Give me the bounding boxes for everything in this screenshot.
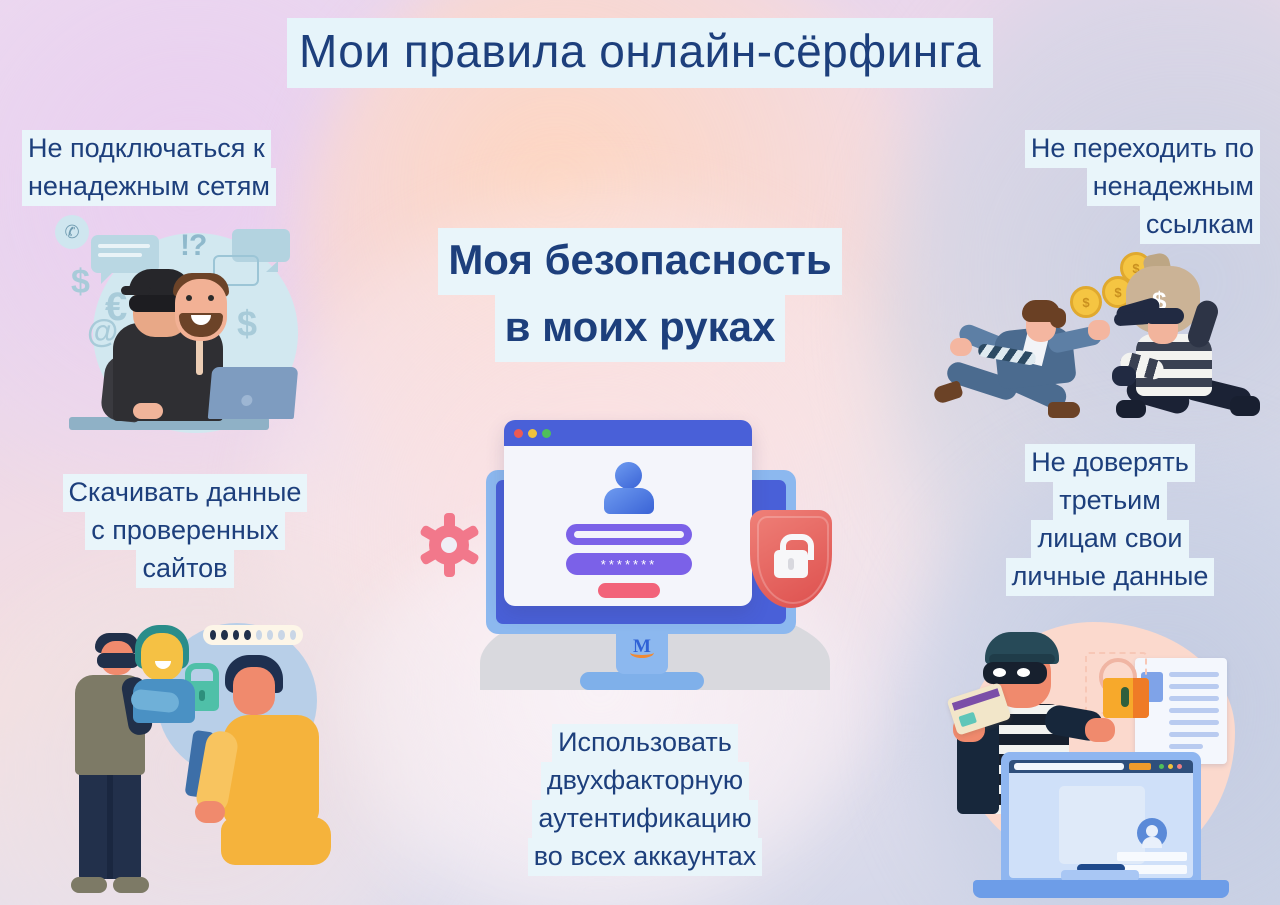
rule-line: Скачивать данные (63, 474, 308, 512)
rule-line: ненадежным (1087, 168, 1260, 206)
window-titlebar (504, 420, 752, 446)
rule-line: аутентификацию (532, 800, 757, 838)
laptop-icon (208, 367, 299, 419)
maximize-dot-icon[interactable] (542, 429, 551, 438)
rule-networks: Не подключаться к ненадежным сетям (22, 130, 362, 206)
runner-front-hand (1088, 320, 1110, 340)
chat-bubble-icon (91, 235, 159, 273)
username-field (1117, 852, 1187, 861)
login-card (1059, 786, 1145, 864)
rule-line: сайтов (136, 550, 233, 588)
monitor-base (580, 672, 704, 690)
laptop-base (973, 880, 1229, 898)
gear-icon (420, 516, 478, 574)
page-title: Мои правила онлайн-сёрфинга (0, 18, 1280, 88)
victim-head (233, 667, 275, 715)
rule-line: лицам свои (1031, 520, 1188, 558)
rule-line: ненадежным сетям (22, 168, 276, 206)
thief-shoe (113, 877, 149, 893)
social-engineering-illustration (45, 605, 365, 900)
exclamation-question-icon: !? (180, 229, 206, 263)
thief-shoe (71, 877, 107, 893)
login-window: ******* (504, 420, 752, 606)
rule-line: с проверенных (85, 512, 284, 550)
rule-line: двухфакторную (541, 762, 749, 800)
thief-eye-mask (983, 662, 1047, 684)
thief-chase-illustration: $ $ $ $ (930, 250, 1260, 435)
phone-call-icon: ✆ (55, 215, 89, 249)
fake-woman-face-front (145, 639, 179, 679)
browser-button (1129, 763, 1151, 770)
password-dot (210, 630, 216, 640)
rule-twofactor: Использовать двухфакторную аутентификаци… (455, 724, 835, 876)
rule-line: Использовать (552, 724, 738, 762)
dollar-symbol-icon: $ (71, 263, 90, 302)
browser-dot-icon (1177, 764, 1182, 769)
password-dots-field (203, 625, 303, 645)
browser-dot-icon (1159, 764, 1164, 769)
password-dot (256, 630, 262, 640)
password-dot (221, 630, 227, 640)
padlock-icon (1103, 678, 1149, 718)
avatar-icon (1137, 818, 1167, 848)
fake-face-eye (186, 295, 192, 301)
runner-back-hand (950, 338, 972, 356)
coin-icon: $ (1070, 286, 1102, 318)
laptop-screen (1009, 760, 1193, 878)
runner-back-shoe (932, 380, 964, 405)
avatar-icon (604, 488, 654, 514)
password-dot (278, 630, 284, 640)
rule-trust: Не доверять третьим лицам свои личные да… (960, 444, 1260, 596)
thief-back-shoe (1116, 400, 1146, 418)
browser-bar (1009, 760, 1193, 773)
login-submit-button[interactable] (598, 583, 660, 598)
rule-line: третьим (1053, 482, 1167, 520)
rule-line: Не переходить по (1025, 130, 1260, 168)
rule-download: Скачивать данные с проверенных сайтов (10, 474, 360, 588)
rule-line: личные данные (1006, 558, 1215, 596)
rule-line: Не доверять (1025, 444, 1195, 482)
runner-hair (1022, 300, 1060, 322)
thief-beanie-cap (985, 632, 1059, 664)
url-bar (1014, 763, 1124, 770)
password-dot (244, 630, 250, 640)
thief-eye-mask (1144, 308, 1184, 324)
password-dot (267, 630, 273, 640)
password-dot (233, 630, 239, 640)
main-heading: Моя безопасность в моих руках (330, 228, 950, 362)
rule-line: ссылкам (1140, 206, 1260, 244)
username-field[interactable] (566, 524, 692, 545)
thief-hand (1085, 718, 1115, 742)
dollar-symbol-icon: $ (237, 303, 257, 345)
thief-front-shoe (1230, 396, 1260, 416)
victim-legs (221, 817, 331, 865)
password-dot (290, 630, 296, 640)
fake-face-eye (208, 295, 214, 301)
lock-body-icon (774, 550, 808, 578)
thief-eye-mask (97, 653, 139, 668)
card-thief-illustration (935, 612, 1265, 902)
rule-line: Не подключаться к (22, 130, 271, 168)
heading-line: Моя безопасность (438, 228, 841, 295)
victim-hand (195, 801, 225, 823)
rule-links: Не переходить по ненадежным ссылкам (930, 130, 1260, 244)
rule-line: во всех аккаунтах (528, 838, 762, 876)
password-field[interactable]: ******* (566, 553, 692, 575)
phishing-scammer-illustration: $ € @ $ !? ✆ (55, 215, 365, 460)
browser-dot-icon (1168, 764, 1173, 769)
brand-logo-icon: M (626, 636, 658, 660)
thief-legs (79, 769, 141, 879)
scammer-hand (133, 403, 163, 419)
victim-body (223, 715, 319, 825)
minimize-dot-icon[interactable] (528, 429, 537, 438)
title-line: Мои правила онлайн-сёрфинга (287, 18, 993, 88)
avatar-icon (615, 462, 642, 489)
shield-icon (750, 510, 832, 608)
heading-line: в моих руках (495, 295, 786, 362)
monitor-login-illustration: M ******* (420, 400, 880, 700)
thief-glove (1112, 366, 1136, 386)
runner-front-shoe (1048, 402, 1080, 418)
close-dot-icon[interactable] (514, 429, 523, 438)
poster-canvas: $ € @ $ !? ✆ $ $ $ (0, 0, 1280, 905)
